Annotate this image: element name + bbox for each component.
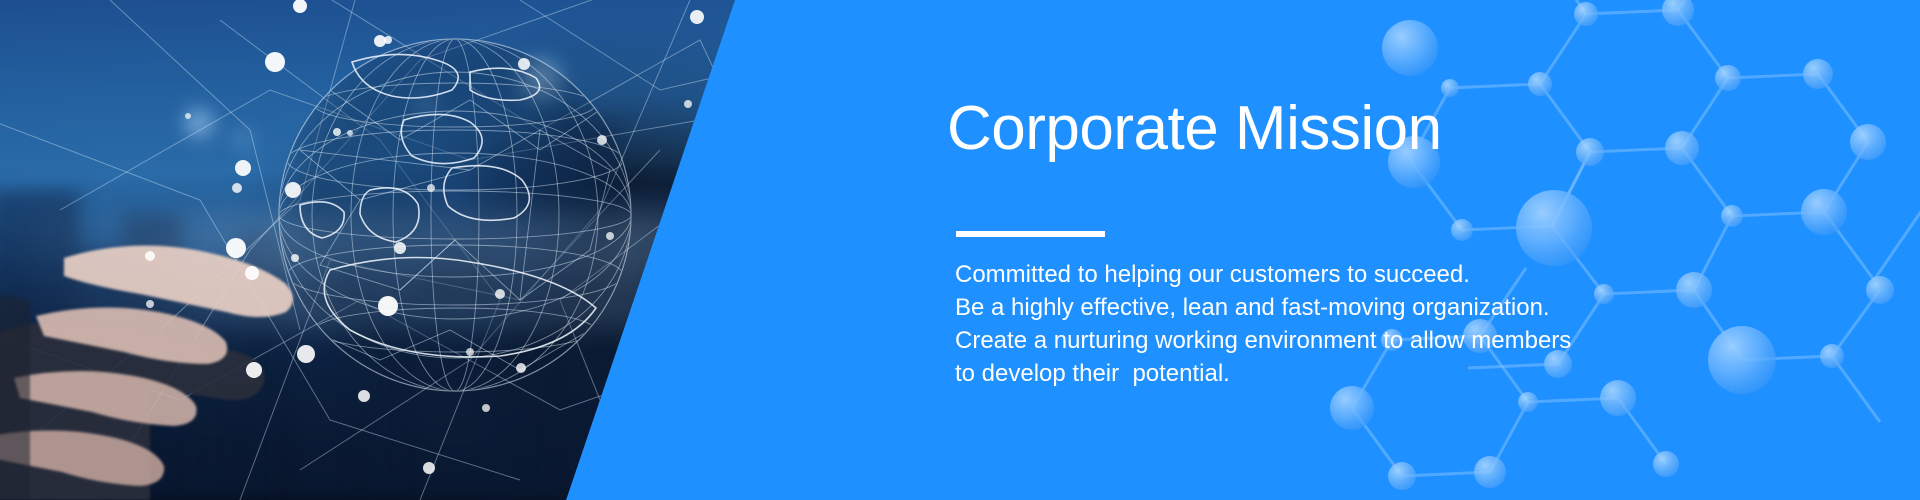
mission-statement-list: Committed to helping our customers to su… <box>955 258 1755 390</box>
text-content-block: Corporate Mission Committed to helping o… <box>947 0 1767 500</box>
mission-line: Create a nurturing working environment t… <box>955 324 1755 357</box>
mission-line: to develop their potential. <box>955 357 1755 390</box>
title-divider <box>956 231 1105 237</box>
mission-line: Committed to helping our customers to su… <box>955 258 1755 291</box>
corporate-mission-banner: Corporate Mission Committed to helping o… <box>0 0 1920 500</box>
mission-line: Be a highly effective, lean and fast-mov… <box>955 291 1755 324</box>
page-title: Corporate Mission <box>947 96 1442 162</box>
